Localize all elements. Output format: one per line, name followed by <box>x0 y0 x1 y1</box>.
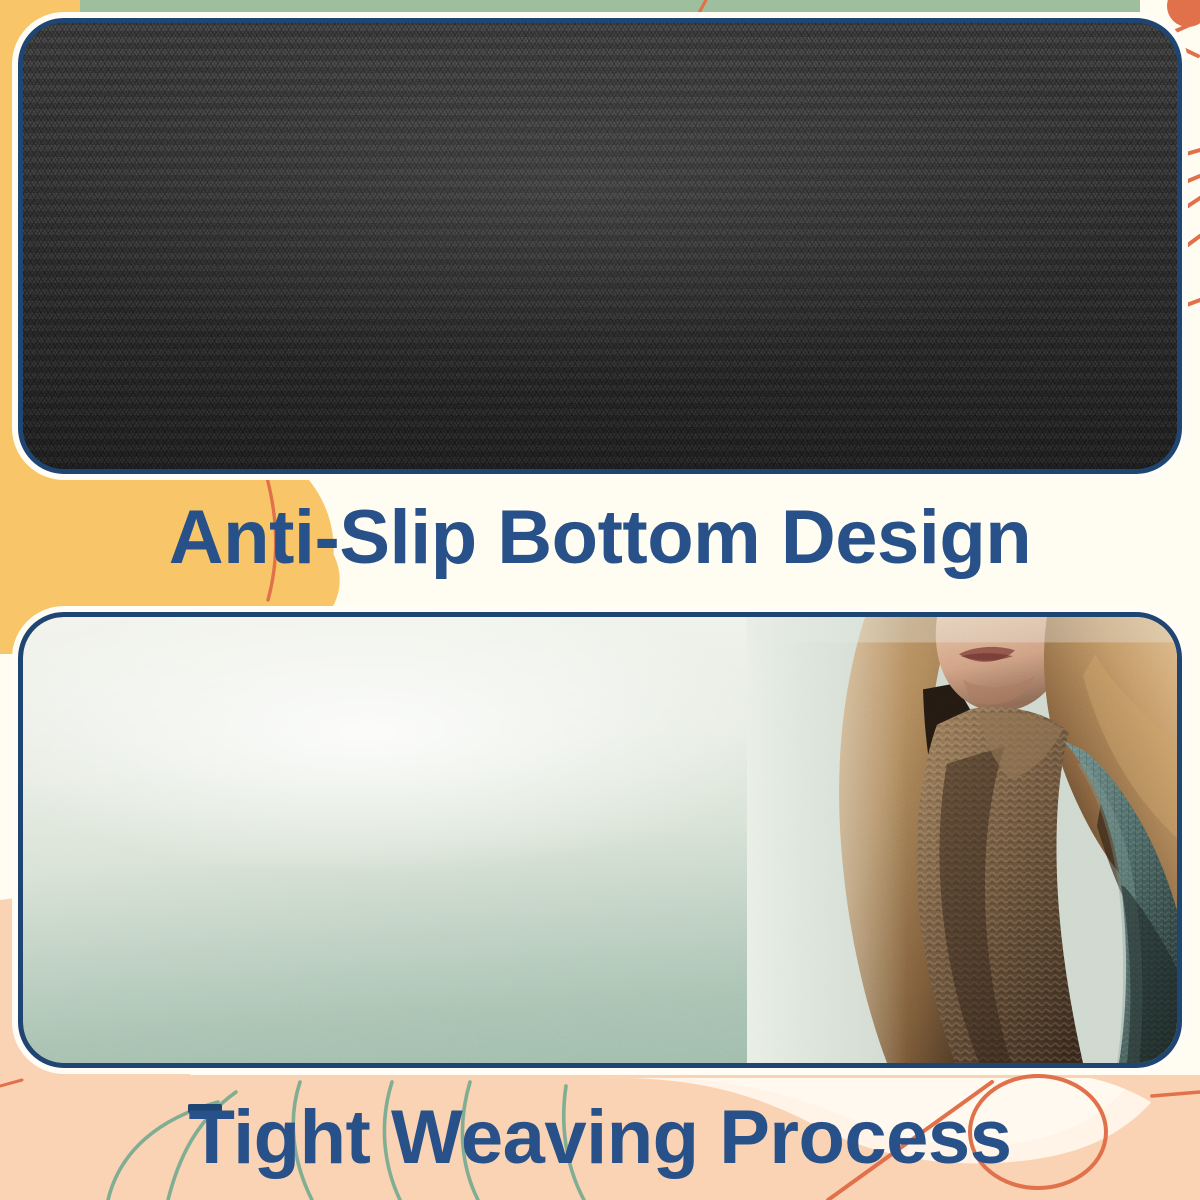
caption-anti-slip: Anti-Slip Bottom Design <box>0 500 1200 576</box>
tight-weaving-panel-inner <box>23 617 1177 1063</box>
poster-canvas: Anti-Slip Bottom Design <box>0 0 1200 1200</box>
anti-slip-panel-inner <box>23 23 1177 469</box>
caption-tight-weaving: Tight Weaving Process <box>0 1100 1200 1176</box>
photo-grain-overlay <box>23 617 1177 1063</box>
anti-slip-panel[interactable] <box>18 18 1182 474</box>
tight-weaving-panel[interactable] <box>18 612 1182 1068</box>
fabric-sheen <box>23 23 1177 469</box>
